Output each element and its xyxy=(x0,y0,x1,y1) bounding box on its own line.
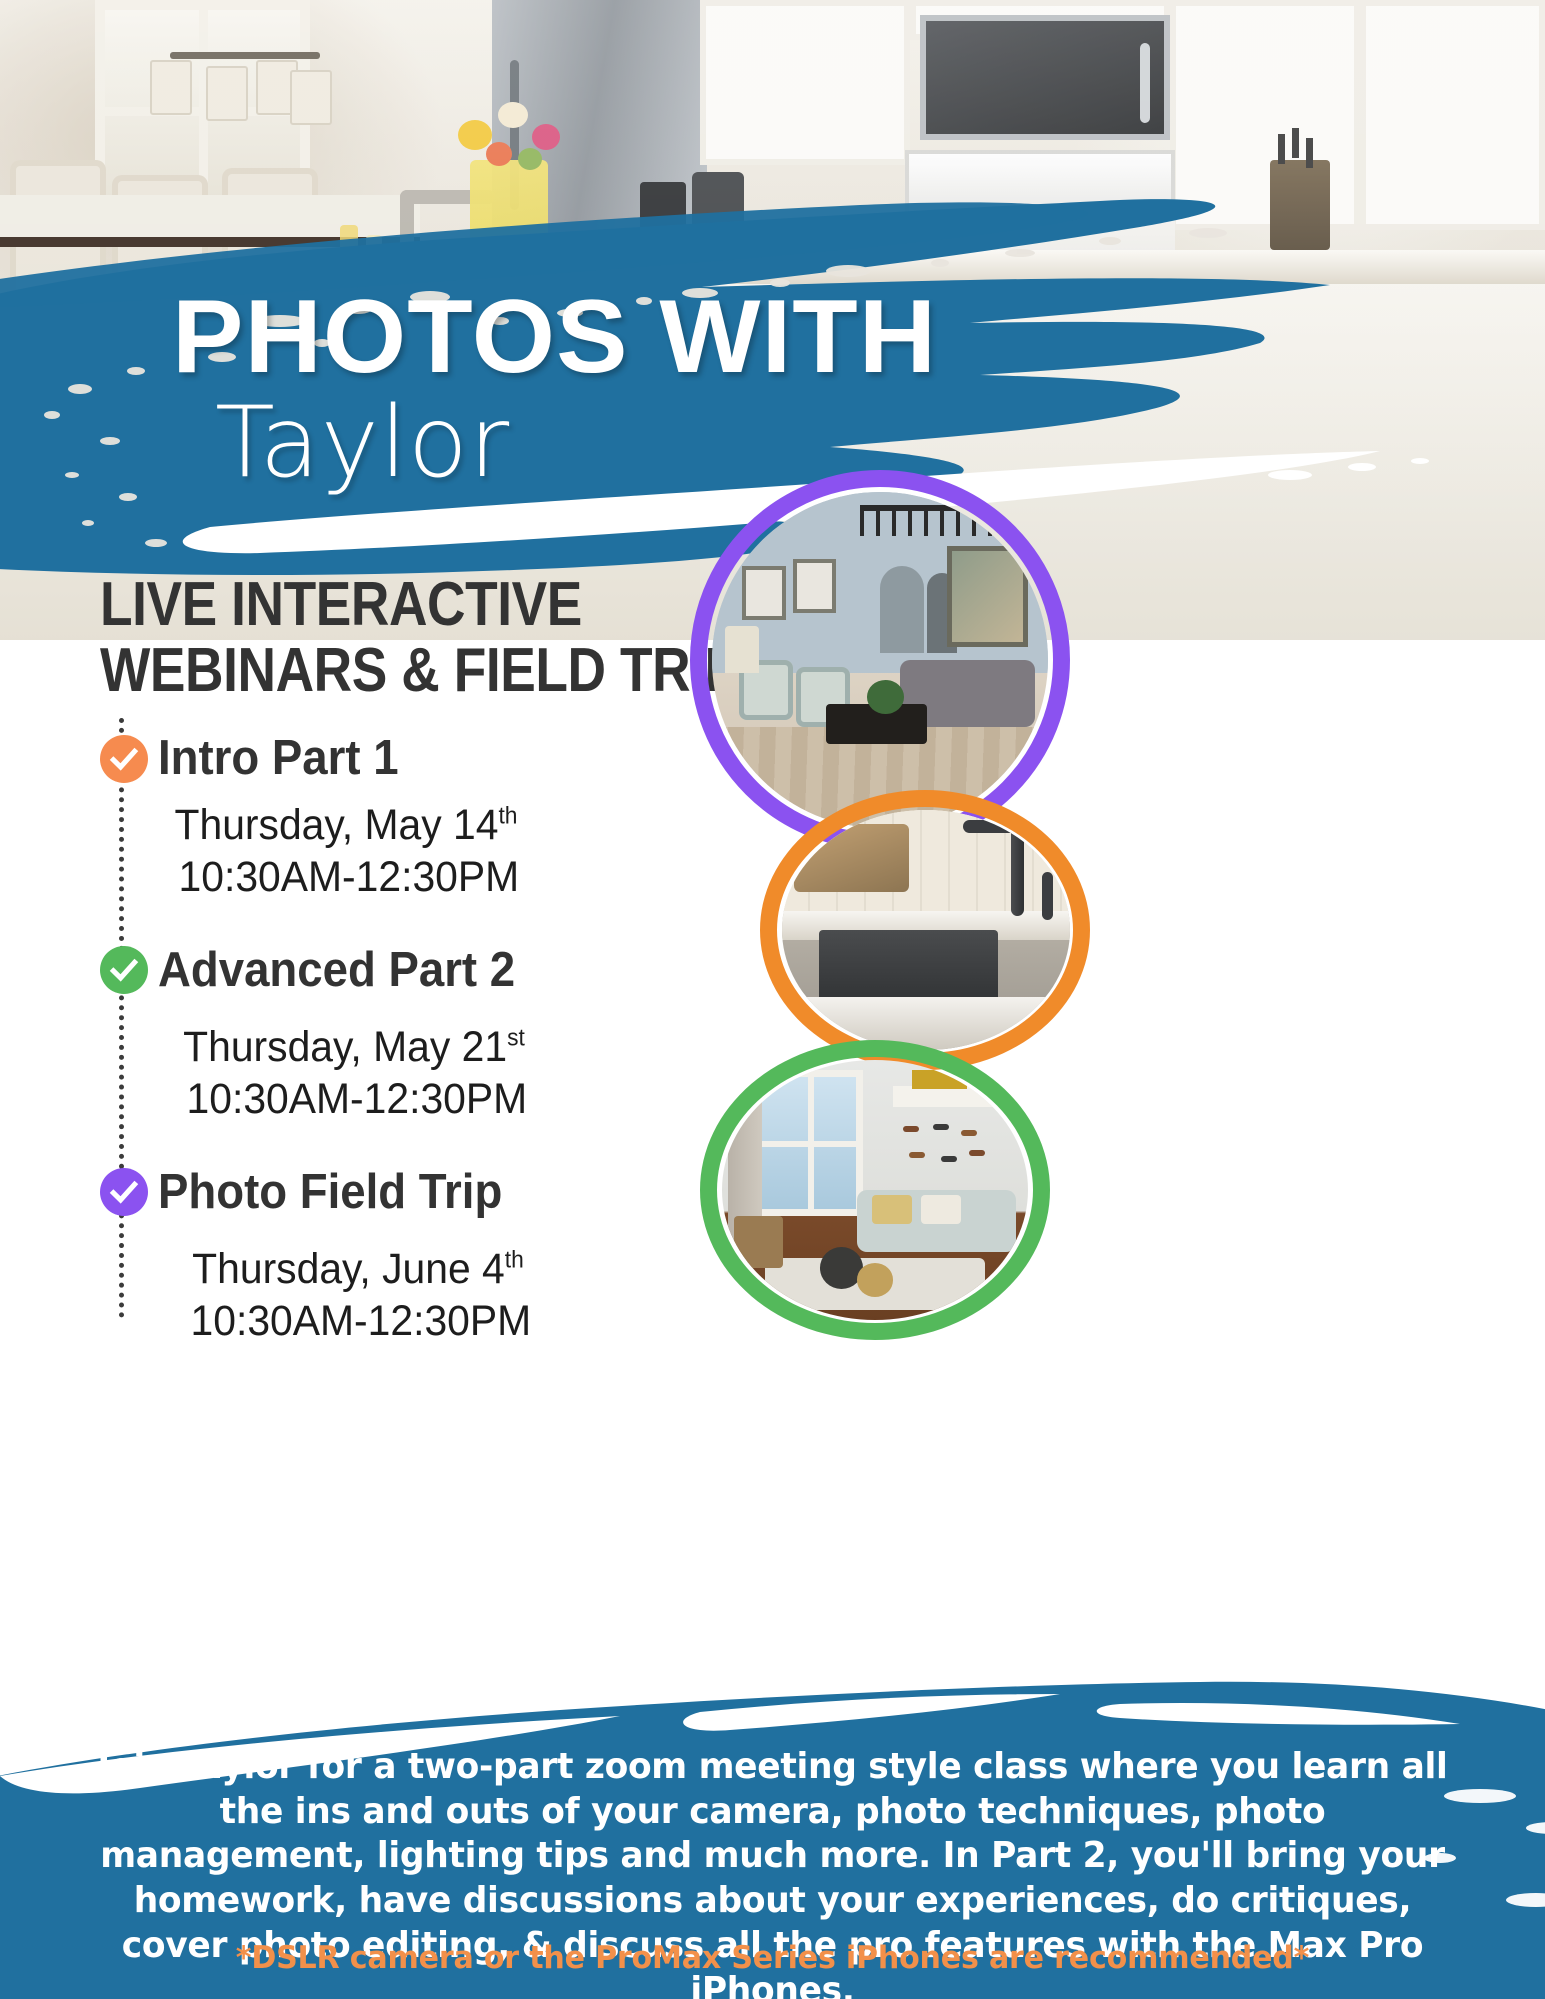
headline-line-1: LIVE INTERACTIVE xyxy=(100,572,702,638)
page-title: PHOTOS WITH xyxy=(172,285,1025,389)
list-item[interactable]: Photo Field Trip Thursday, June 4th 10:3… xyxy=(100,1168,740,1348)
session-heading: Intro Part 1 xyxy=(100,734,740,783)
check-circle-purple-icon xyxy=(100,1168,148,1216)
date-ordinal-suffix: th xyxy=(498,803,517,830)
session-title: Advanced Part 2 xyxy=(158,946,515,995)
date-ordinal-suffix: st xyxy=(507,1025,525,1052)
sitting-room-circle-photo xyxy=(700,1040,1050,1340)
flyer-page: PHOTOS WITH Taylor LIVE INTERACTIVE WEBI… xyxy=(0,0,1545,1999)
session-time: 10:30AM-12:30PM xyxy=(147,851,546,903)
session-date: Thursday, June 4th xyxy=(159,1243,558,1295)
check-circle-orange-icon xyxy=(100,735,148,783)
orange-ring-stroke xyxy=(760,790,1090,1070)
session-date: Thursday, May 21st xyxy=(155,1021,554,1073)
check-circle-green-icon xyxy=(100,946,148,994)
session-schedule: Thursday, May 14th 10:30AM-12:30PM xyxy=(147,799,546,904)
session-date: Thursday, May 14th xyxy=(147,799,546,851)
kitchen-sink-circle-photo xyxy=(760,790,1090,1070)
headline-line-2: WEBINARS & FIELD TRIPS xyxy=(100,638,702,704)
section-headline: LIVE INTERACTIVE WEBINARS & FIELD TRIPS xyxy=(100,572,702,703)
session-heading: Photo Field Trip xyxy=(100,1168,740,1217)
session-title: Intro Part 1 xyxy=(158,734,399,783)
list-item[interactable]: Advanced Part 2 Thursday, May 21st 10:30… xyxy=(100,946,740,1126)
title-block: PHOTOS WITH Taylor xyxy=(0,285,1000,497)
list-item[interactable]: Intro Part 1 Thursday, May 14th 10:30AM-… xyxy=(100,734,740,904)
green-ring-stroke xyxy=(700,1040,1050,1340)
session-time: 10:30AM-12:30PM xyxy=(155,1073,554,1125)
session-heading: Advanced Part 2 xyxy=(100,946,740,995)
session-schedule: Thursday, May 21st 10:30AM-12:30PM xyxy=(155,1021,554,1126)
session-schedule: Thursday, June 4th 10:30AM-12:30PM xyxy=(159,1243,558,1348)
session-title: Photo Field Trip xyxy=(158,1168,502,1217)
session-time: 10:30AM-12:30PM xyxy=(159,1295,558,1347)
session-timeline: Intro Part 1 Thursday, May 14th 10:30AM-… xyxy=(100,718,740,1348)
footer-equipment-note: *DSLR camera or the ProMax Series iPhone… xyxy=(81,1940,1463,1976)
date-ordinal-suffix: th xyxy=(505,1246,524,1273)
